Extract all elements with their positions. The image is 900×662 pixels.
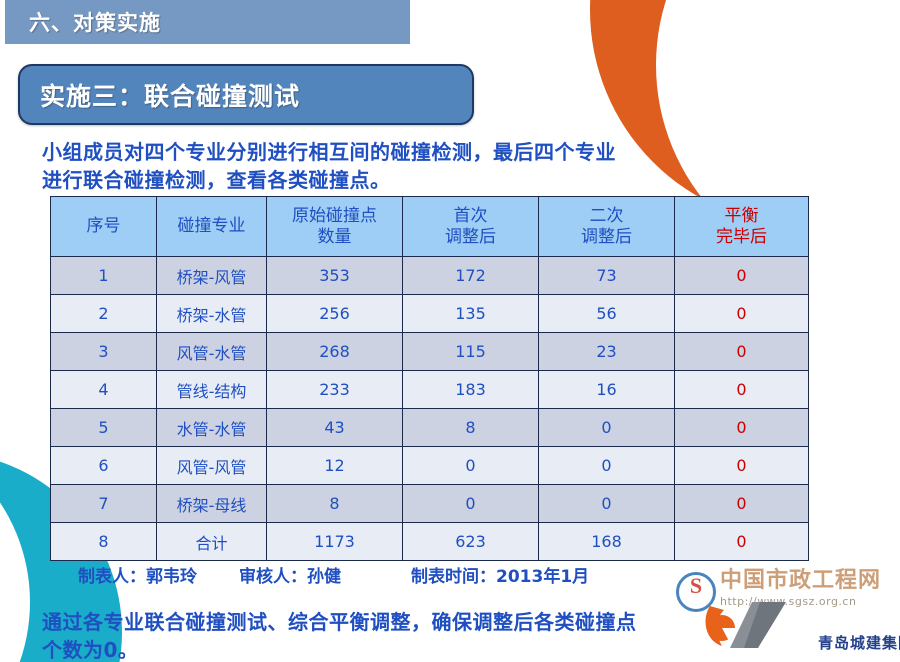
cell-balanced: 0 [675,371,809,409]
col-header-balanced-line2: 完毕后 [716,227,767,247]
cell-pair: 风管-水管 [157,333,267,371]
col-header-no-text: 序号 [87,216,121,236]
collision-table-wrapper: 序号 碰撞专业 原始碰撞点 数量 首次 调整后 [50,196,808,561]
cell-no: 2 [51,295,157,333]
col-header-no: 序号 [51,197,157,257]
table-row: 4管线-结构233183160 [51,371,809,409]
slide-canvas: 六、对策实施 实施三：联合碰撞测试 小组成员对四个专业分别进行相互间的碰撞检测，… [0,0,900,662]
table-row: 3风管-水管268115230 [51,333,809,371]
cell-balanced: 0 [675,409,809,447]
cell-balanced: 0 [675,333,809,371]
cell-second: 0 [539,409,675,447]
intro-paragraph: 小组成员对四个专业分别进行相互间的碰撞检测，最后四个专业 进行联合碰撞检测，查看… [42,138,832,194]
cell-no: 7 [51,485,157,523]
cell-second: 56 [539,295,675,333]
cell-original: 8 [267,485,403,523]
cell-second: 23 [539,333,675,371]
table-row: 8合计11736231680 [51,523,809,561]
cell-second: 168 [539,523,675,561]
cell-original: 353 [267,257,403,295]
credits-date: 制表时间：2013年1月 [411,562,589,587]
cell-no: 6 [51,447,157,485]
intro-line-1: 小组成员对四个专业分别进行相互间的碰撞检测，最后四个专业 [42,138,832,166]
col-header-pair-text: 碰撞专业 [178,216,246,236]
col-header-second-line1: 二次 [590,206,624,226]
slide-title-label: 实施三：联合碰撞测试 [20,77,300,113]
col-header-balanced-line1: 平衡 [725,206,759,226]
collision-table: 序号 碰撞专业 原始碰撞点 数量 首次 调整后 [50,196,809,561]
cell-balanced: 0 [675,447,809,485]
cell-balanced: 0 [675,485,809,523]
table-row: 1桥架-风管353172730 [51,257,809,295]
col-header-second: 二次 调整后 [539,197,675,257]
cell-balanced: 0 [675,523,809,561]
cell-no: 4 [51,371,157,409]
credits-reviewer: 审核人：孙健 [239,562,341,587]
cell-first: 0 [403,485,539,523]
table-row: 5水管-水管43800 [51,409,809,447]
table-row: 2桥架-水管256135560 [51,295,809,333]
cell-first: 623 [403,523,539,561]
cell-balanced: 0 [675,295,809,333]
col-header-first: 首次 调整后 [403,197,539,257]
col-header-original-line1: 原始碰撞点 [292,206,377,226]
cell-no: 5 [51,409,157,447]
credits-line: 制表人：郭韦玲 审核人：孙健 制表时间：2013年1月 [50,562,810,587]
col-header-pair: 碰撞专业 [157,197,267,257]
cell-no: 3 [51,333,157,371]
cell-original: 268 [267,333,403,371]
col-header-second-line2: 调整后 [581,227,632,247]
cell-balanced: 0 [675,257,809,295]
cell-no: 1 [51,257,157,295]
credits-preparer: 制表人：郭韦玲 [78,562,197,587]
cell-pair: 水管-水管 [157,409,267,447]
section-bar-label: 六、对策实施 [5,7,161,37]
slide-title-box: 实施三：联合碰撞测试 [18,64,474,125]
corporate-logo-mark [700,598,810,652]
table-header-row: 序号 碰撞专业 原始碰撞点 数量 首次 调整后 [51,197,809,257]
cell-original: 1173 [267,523,403,561]
cell-original: 233 [267,371,403,409]
corporate-logo-name: 青岛城建集团 [818,632,900,653]
table-head: 序号 碰撞专业 原始碰撞点 数量 首次 调整后 [51,197,809,257]
cell-first: 0 [403,447,539,485]
cell-pair: 桥架-母线 [157,485,267,523]
col-header-original-line2: 数量 [318,227,352,247]
cell-original: 256 [267,295,403,333]
cell-first: 115 [403,333,539,371]
col-header-original: 原始碰撞点 数量 [267,197,403,257]
col-header-balanced: 平衡 完毕后 [675,197,809,257]
cell-pair: 管线-结构 [157,371,267,409]
col-header-first-line1: 首次 [454,206,488,226]
cell-pair: 风管-风管 [157,447,267,485]
table-row: 6风管-风管12000 [51,447,809,485]
cell-pair: 合计 [157,523,267,561]
cell-original: 43 [267,409,403,447]
corporate-logo: 青岛城建集团 [700,598,900,662]
cell-second: 0 [539,447,675,485]
cell-pair: 桥架-风管 [157,257,267,295]
cell-second: 0 [539,485,675,523]
section-bar: 六、对策实施 [5,0,410,44]
cell-first: 8 [403,409,539,447]
col-header-first-line2: 调整后 [445,227,496,247]
cell-second: 73 [539,257,675,295]
cell-first: 135 [403,295,539,333]
cell-first: 183 [403,371,539,409]
cell-second: 16 [539,371,675,409]
table-body: 1桥架-风管3531727302桥架-水管2561355603风管-水管2681… [51,257,809,561]
table-row: 7桥架-母线8000 [51,485,809,523]
cell-original: 12 [267,447,403,485]
cell-no: 8 [51,523,157,561]
intro-line-2: 进行联合碰撞检测，查看各类碰撞点。 [42,166,832,194]
cell-pair: 桥架-水管 [157,295,267,333]
cell-first: 172 [403,257,539,295]
